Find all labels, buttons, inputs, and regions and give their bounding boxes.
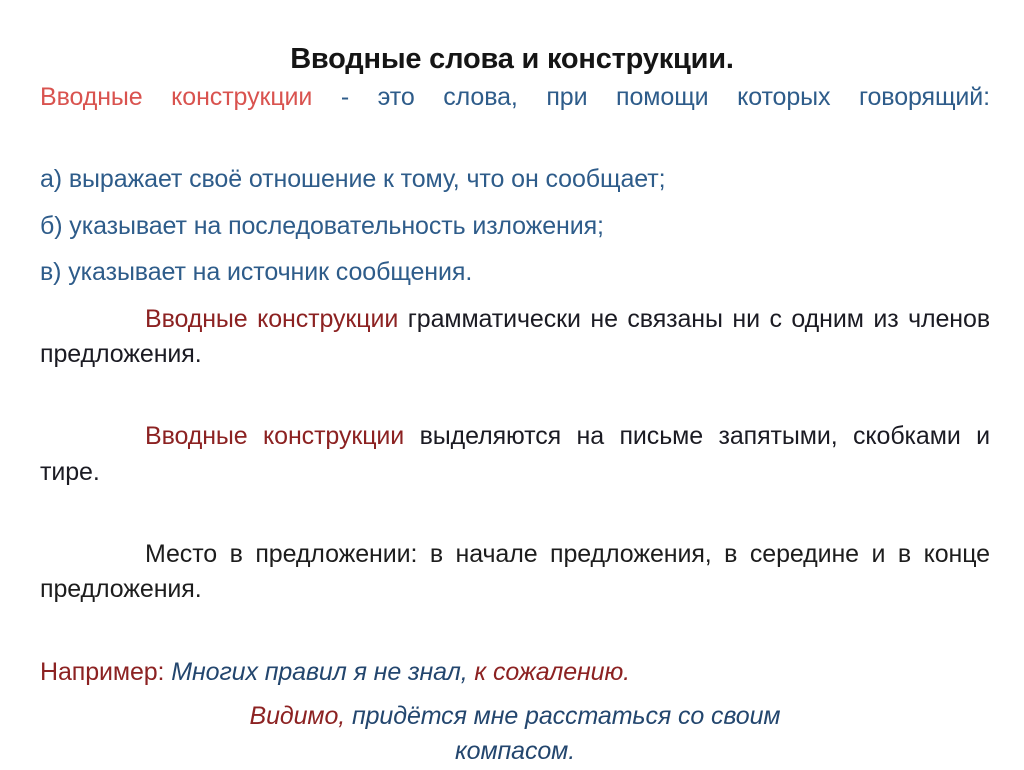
list-item: в) указывает на источник сообщения. bbox=[40, 255, 990, 291]
example-second-intro-word: Видимо, bbox=[250, 702, 346, 730]
placement-paragraph: Место в предложении: в начале предложени… bbox=[40, 537, 990, 644]
example-label: Например: bbox=[40, 658, 164, 686]
list-item-marker: в) bbox=[40, 258, 61, 286]
list-item: а) выражает своё отношение к тому, что о… bbox=[40, 162, 990, 198]
rule-term: Вводные конструкции bbox=[145, 305, 398, 333]
rule-paragraph-grammar: Вводные конструкции грамматически не свя… bbox=[40, 302, 990, 409]
definition-paragraph: Вводные конструкции - это слова, при пом… bbox=[40, 80, 990, 151]
placement-text: Место в предложении: в начале предложени… bbox=[40, 540, 990, 604]
list-item-label: указывает на источник сообщения. bbox=[61, 258, 472, 286]
list-item-label: указывает на последовательность изложени… bbox=[62, 212, 603, 240]
slide-body: Вводные конструкции - это слова, при пом… bbox=[40, 80, 990, 770]
rule-paragraph-punctuation: Вводные конструкции выделяются на письме… bbox=[40, 419, 990, 526]
definition-term: Вводные конструкции bbox=[40, 83, 312, 111]
example-sentence-intro-word: к сожалению. bbox=[468, 658, 630, 686]
list-item-marker: б) bbox=[40, 212, 62, 240]
example-second-body: придётся мне расстаться со своим компасо… bbox=[345, 702, 780, 766]
list-item-label: выражает своё отношение к тому, что он с… bbox=[62, 165, 665, 193]
list-item: б) указывает на последовательность излож… bbox=[40, 209, 990, 245]
list-item-marker: а) bbox=[40, 165, 62, 193]
definition-rest: - это слова, при помощи которых говорящи… bbox=[312, 83, 990, 111]
example-second-paragraph: Видимо, придётся мне расстаться со своим… bbox=[205, 699, 825, 770]
slide-root: Вводные слова и конструкции. Вводные кон… bbox=[0, 0, 1024, 768]
example-sentence-main: Многих правил я не знал, bbox=[164, 658, 467, 686]
example-paragraph: Например: Многих правил я не знал, к сож… bbox=[40, 655, 990, 691]
rule-term: Вводные конструкции bbox=[145, 422, 404, 450]
page-title: Вводные слова и конструкции. bbox=[0, 43, 1024, 76]
